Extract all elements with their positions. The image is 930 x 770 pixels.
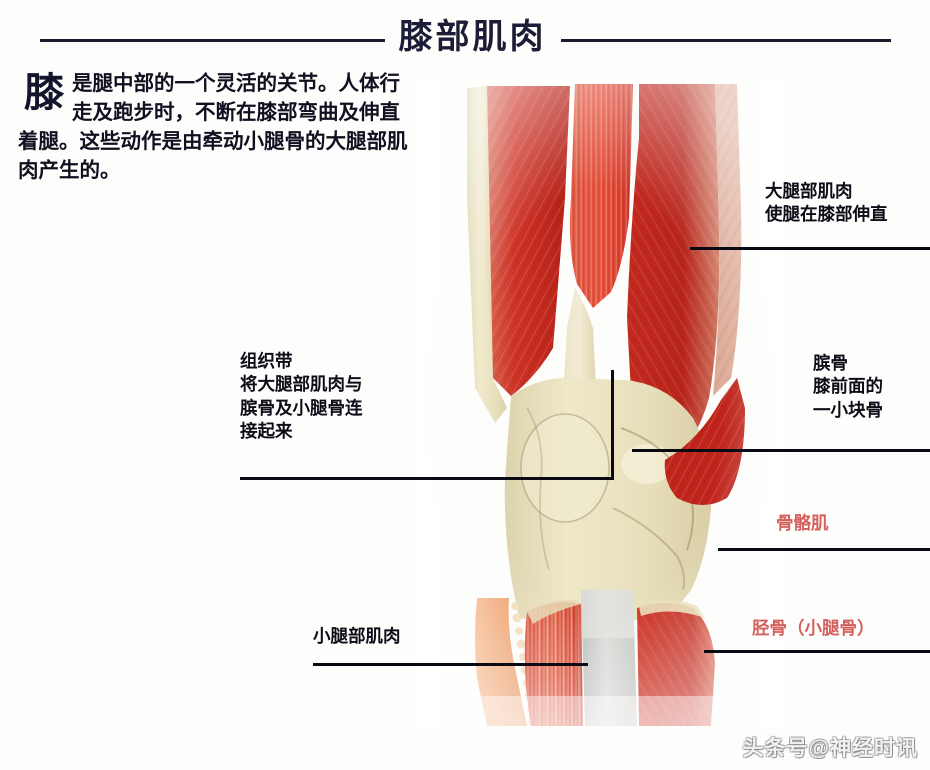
page-header: 膝部肌肉 bbox=[0, 12, 930, 64]
callout-tissue-band: 组织带 将大腿部肌肉与 膑骨及小腿骨连 接起来 bbox=[240, 350, 445, 443]
leader-line-skeletal-muscle bbox=[718, 548, 930, 551]
page-title: 膝部肌肉 bbox=[399, 21, 547, 55]
callout-patella: 膑骨 膝前面的 一小块骨 bbox=[813, 352, 930, 422]
leader-line-tissue-band-horizontal bbox=[240, 477, 614, 480]
intro-dropcap: 膝 bbox=[24, 74, 64, 112]
callout-tibia: 胫骨（小腿骨） bbox=[752, 617, 930, 640]
callout-skeletal-muscle: 骨骼肌 bbox=[776, 512, 930, 535]
leader-line-calf-muscle bbox=[313, 663, 588, 666]
leader-line-thigh-muscle bbox=[690, 247, 930, 250]
intro-body-text: 是腿中部的一个灵活的关节。人体行走及跑步时，不断在膝部弯曲及伸直着腿。这些动作是… bbox=[18, 73, 408, 182]
leader-line-tissue-band-vertical bbox=[611, 370, 614, 480]
leader-line-tibia bbox=[704, 650, 930, 653]
callout-calf-muscle: 小腿部肌肉 bbox=[313, 625, 473, 648]
knee-muscles-infographic: 膝部肌肉 膝 是腿中部的一个灵活的关节。人体行走及跑步时，不断在膝部弯曲及伸直着… bbox=[0, 0, 930, 770]
leader-line-patella bbox=[632, 449, 930, 452]
header-rule-right bbox=[561, 39, 891, 42]
intro-paragraph: 膝 是腿中部的一个灵活的关节。人体行走及跑步时，不断在膝部弯曲及伸直着腿。这些动… bbox=[18, 70, 418, 186]
header-rule-left bbox=[40, 39, 385, 42]
watermark: 头条号@神经时讯 bbox=[743, 732, 918, 762]
callout-thigh-muscle: 大腿部肌肉 使腿在膝部伸直 bbox=[765, 180, 925, 227]
